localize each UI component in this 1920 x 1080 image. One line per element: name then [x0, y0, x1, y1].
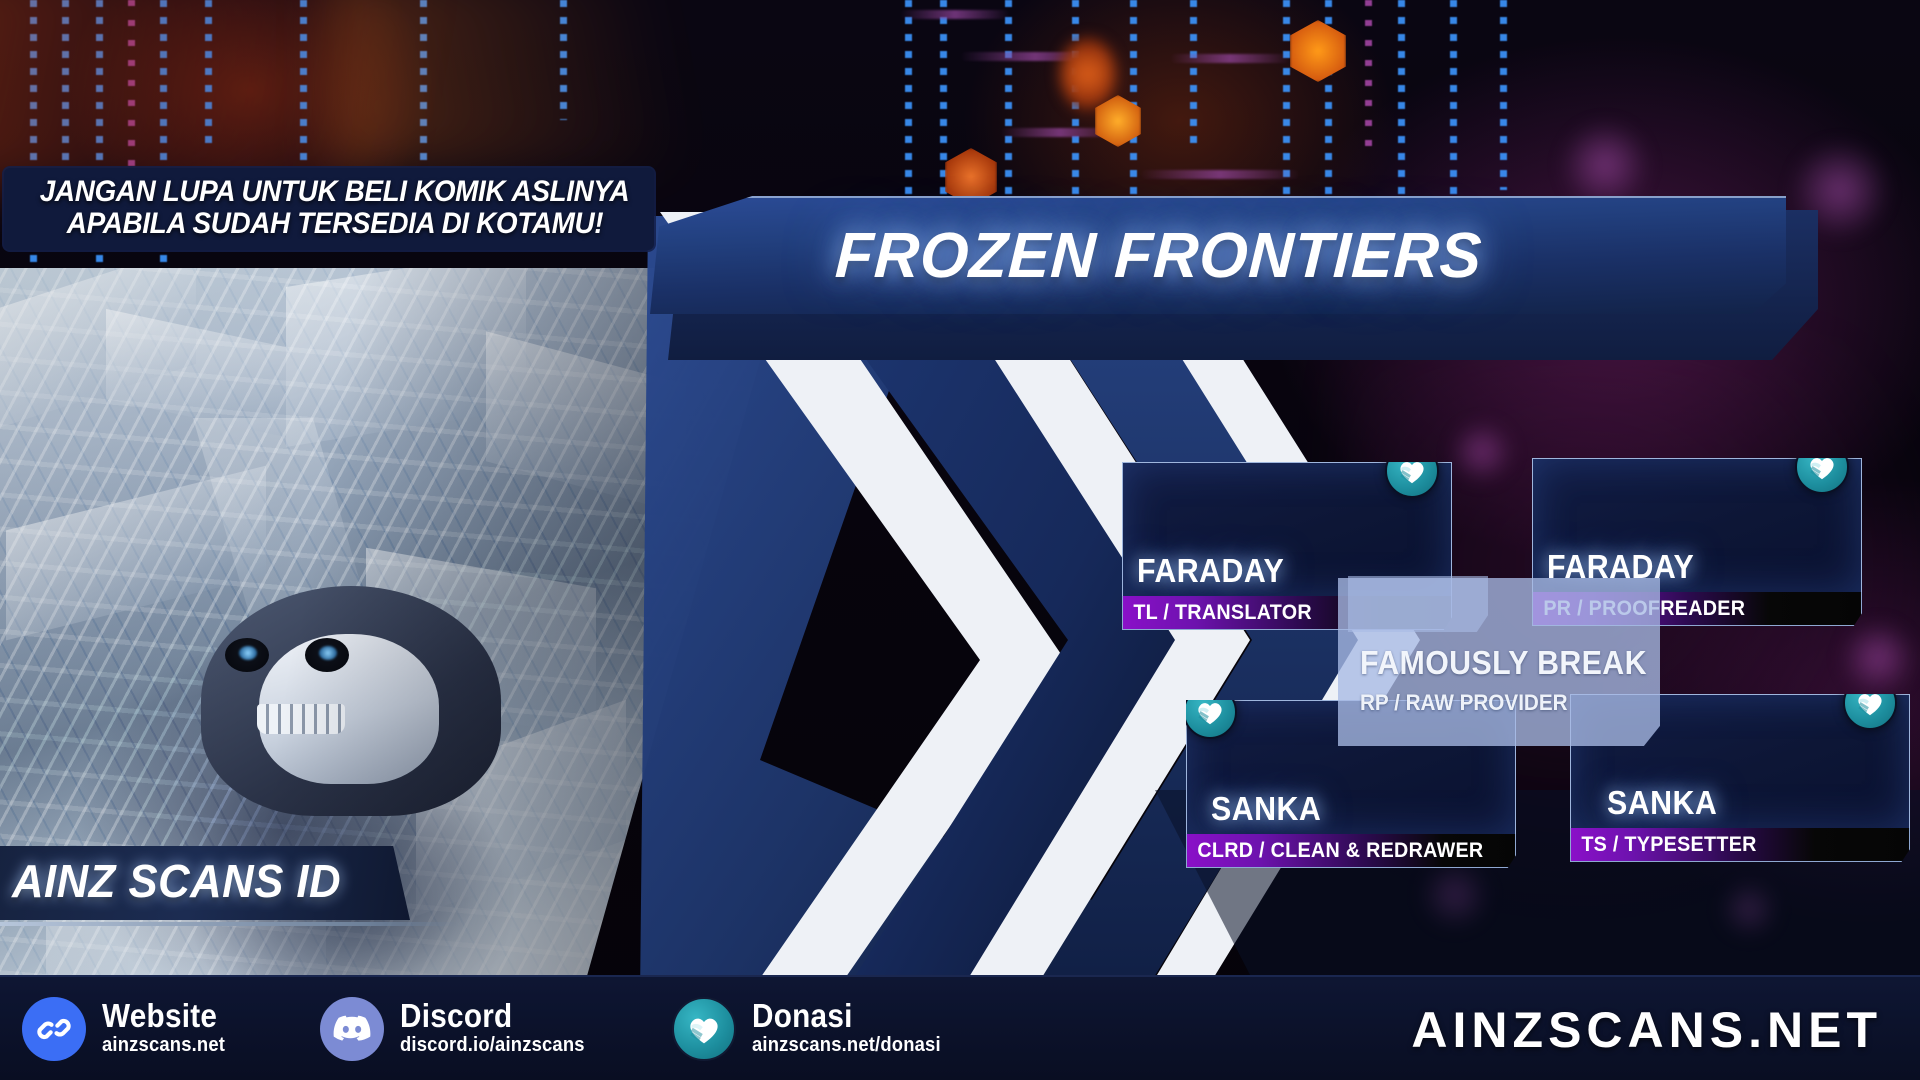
- footer-link-text: Website ainzscans.net: [102, 999, 236, 1059]
- handshake-heart-icon: [672, 997, 736, 1061]
- credit-role-label: TL / TRANSLATOR: [1123, 601, 1312, 625]
- footer-link-sub: ainzscans.net: [102, 1032, 225, 1059]
- credit-role: CLRD / CLEAN & REDRAWER: [1186, 834, 1516, 868]
- series-title: FROZEN FRONTIERS: [834, 218, 1711, 292]
- footer-link-sub: discord.io/ainzscans: [400, 1032, 585, 1059]
- credit-name: FARADAY: [1137, 552, 1284, 590]
- footer-link-title: Donasi: [752, 999, 937, 1032]
- credit-card-raw-provider[interactable]: FAMOUSLY BREAK RP / RAW PROVIDER: [1338, 578, 1660, 746]
- credit-role-label: CLRD / CLEAN & REDRAWER: [1187, 839, 1483, 863]
- scanlation-watermark: AINZ SCANS ID: [0, 846, 410, 920]
- watermark-underline: [0, 922, 460, 926]
- footer-link-sub: ainzscans.net/donasi: [752, 1032, 941, 1059]
- footer-link-text: Donasi ainzscans.net/donasi: [752, 999, 957, 1059]
- credit-name: SANKA: [1607, 784, 1717, 822]
- footer-link-text: Discord discord.io/ainzscans: [400, 999, 601, 1059]
- buy-original-notice: JANGAN LUPA UNTUK BELI KOMIK ASLINYA APA…: [4, 168, 654, 250]
- footer-link-title: Website: [102, 999, 222, 1032]
- discord-icon: [320, 997, 384, 1061]
- credit-role-label: TS / TYPESETTER: [1571, 833, 1757, 857]
- footer-link-donasi[interactable]: Donasi ainzscans.net/donasi: [672, 997, 957, 1061]
- credit-name: FAMOUSLY BREAK: [1360, 644, 1647, 682]
- link-chain-icon: [22, 997, 86, 1061]
- footer-brand: AINZSCANS.NET: [1411, 1001, 1882, 1059]
- credit-card-body: FARADAY: [1532, 458, 1862, 593]
- footer-bar: Website ainzscans.net Discord discord.io…: [0, 975, 1920, 1080]
- footer-link-website[interactable]: Website ainzscans.net: [22, 997, 236, 1061]
- credit-role: TS / TYPESETTER: [1570, 828, 1910, 862]
- footer-link-discord[interactable]: Discord discord.io/ainzscans: [320, 997, 601, 1061]
- notice-line-1: JANGAN LUPA UNTUK BELI KOMIK ASLINYA: [40, 176, 618, 208]
- credits-page: JANGAN LUPA UNTUK BELI KOMIK ASLINYA APA…: [0, 0, 1920, 1080]
- series-title-banner: FROZEN FRONTIERS: [650, 196, 1820, 356]
- watermark-text: AINZ SCANS ID: [12, 854, 341, 908]
- notice-line-2: APABILA SUDAH TERSEDIA DI KOTAMU!: [46, 208, 624, 240]
- credit-role-label: RP / RAW PROVIDER: [1360, 690, 1568, 716]
- credit-name: SANKA: [1211, 790, 1321, 828]
- footer-link-title: Discord: [400, 999, 581, 1032]
